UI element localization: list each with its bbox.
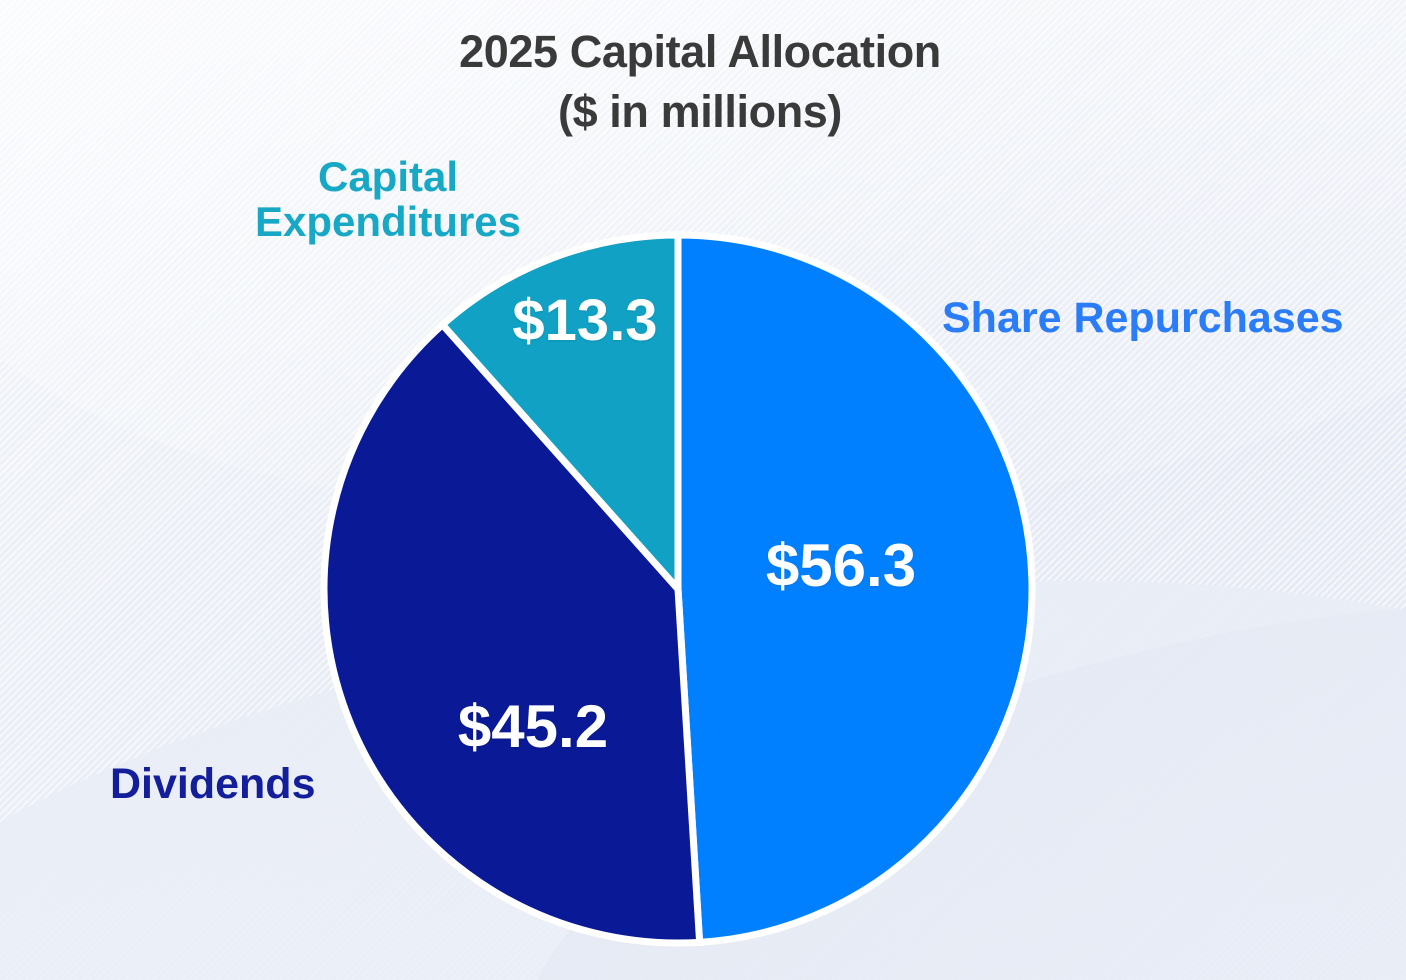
pie-graphic — [0, 0, 1406, 980]
slice-value-dividends: $45.2 — [458, 697, 608, 757]
slice-value-capital-expenditures: $13.3 — [512, 292, 657, 350]
pie-chart-figure: 2025 Capital Allocation ($ in millions) … — [0, 0, 1406, 980]
chart-title-block: 2025 Capital Allocation ($ in millions) — [0, 22, 1406, 143]
category-label-dividends: Dividends — [110, 761, 316, 807]
category-label-share-repurchases: Share Repurchases — [942, 295, 1344, 341]
slice-value-share-repurchases: $56.3 — [766, 536, 916, 596]
chart-title: 2025 Capital Allocation — [459, 22, 941, 82]
chart-subtitle: ($ in millions) — [459, 82, 941, 142]
category-label-capital-expenditures: Capital Expenditures — [232, 155, 544, 245]
pie-slices-group — [324, 235, 1032, 943]
